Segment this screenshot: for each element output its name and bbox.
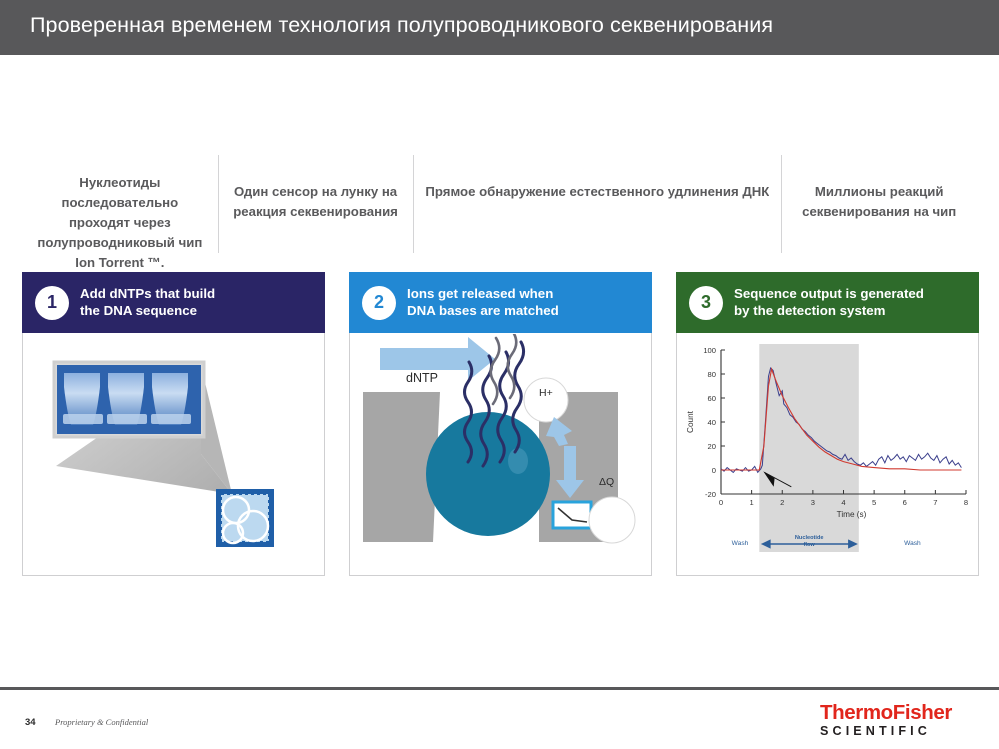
svg-text:4: 4 [841,498,845,507]
nucleotide-flow-label: Nucleotide [795,535,824,541]
svg-text:-20: -20 [705,490,716,499]
svg-text:100: 100 [703,346,716,355]
thermofisher-logo: ThermoFisher SCIENTIFIC [820,702,980,738]
logo-wordmark: ThermoFisher [820,702,980,723]
x-axis-label: Time (s) [837,510,867,519]
svg-text:0: 0 [719,498,723,507]
wash-label: Wash [732,540,749,547]
step-card-3-body: -20020406080100012345678Time (s)CountWas… [677,334,978,575]
nucleotide-flow-label-2: flow [804,542,816,548]
step-card-1: 1 Add dNTPs that build the DNA sequence [22,272,325,576]
svg-text:0: 0 [712,466,716,475]
step-card-2-title-line1: Ions get released when [407,286,553,301]
svg-text:60: 60 [708,394,716,403]
callout-3-text: Прямое обнаружение естественного удлинен… [425,155,769,202]
dntp-label: dNTP [406,371,438,385]
step-number-badge-2: 2 [362,286,396,320]
hydrogen-ion-circle [524,378,568,422]
delta-q-circle [589,497,635,543]
svg-text:80: 80 [708,370,716,379]
callout-4: Миллионы реакций секвенирования на чип [781,155,977,253]
confidentiality-notice: Proprietary & Confidential [55,717,148,727]
callout-2-text: Один сенсор на лунку на реакция секвенир… [230,155,402,222]
callout-1: Нуклеотиды последовательно проходят чере… [22,155,218,253]
svg-text:5: 5 [872,498,876,507]
slide-header-bar: Проверенная временем технология полупров… [0,0,999,55]
delta-q-label: ΔQ [599,476,614,488]
slide: Проверенная временем технология полупров… [0,0,999,749]
sensor-box [553,502,591,528]
ion-release-sensor-diagram [350,334,651,575]
y-axis-label: Count [686,410,695,433]
step-card-3-title-line1: Sequence output is generated [734,286,924,301]
page-title: Проверенная временем технология полупров… [30,13,773,38]
step-number-badge-3: 3 [689,286,723,320]
step-card-3-title: Sequence output is generated by the dete… [734,286,924,319]
step-card-2-title: Ions get released when DNA bases are mat… [407,286,559,319]
step-card-1-title-line2: the DNA sequence [80,303,197,318]
callout-row: Нуклеотиды последовательно проходят чере… [22,155,977,253]
svg-text:7: 7 [933,498,937,507]
footer-divider [0,687,999,690]
page-number: 34 [25,717,36,728]
step-card-1-header: 1 Add dNTPs that build the DNA sequence [22,272,325,333]
svg-text:1: 1 [750,498,754,507]
step-card-1-title: Add dNTPs that build the DNA sequence [80,286,215,319]
svg-text:6: 6 [903,498,907,507]
callout-3: Прямое обнаружение естественного удлинен… [413,155,781,253]
hplus-label: H+ [539,387,553,399]
step-card-row: 1 Add dNTPs that build the DNA sequence [22,272,978,576]
step-card-3-header: 3 Sequence output is generated by the de… [676,272,979,333]
wash-label: Wash [904,540,921,547]
ion-torrent-chip-wells-diagram [23,334,324,575]
callout-2: Один сенсор на лунку на реакция секвенир… [218,155,414,253]
step-card-2-header: 2 Ions get released when DNA bases are m… [349,272,652,333]
svg-text:3: 3 [811,498,815,507]
step-card-3: 3 Sequence output is generated by the de… [676,272,979,576]
callout-4-text: Миллионы реакций секвенирования на чип [793,155,965,222]
callout-1-text: Нуклеотиды последовательно проходят чере… [34,155,206,273]
step-card-1-title-line1: Add dNTPs that build [80,286,215,301]
step-card-1-body [23,334,324,575]
svg-text:8: 8 [964,498,968,507]
step-card-2-title-line2: DNA bases are matched [407,303,559,318]
step-card-3-title-line2: by the detection system [734,303,885,318]
step-card-2: 2 Ions get released when DNA bases are m… [349,272,652,576]
svg-text:40: 40 [708,418,716,427]
dna-bead [426,412,550,536]
logo-subtitle: SCIENTIFIC [820,724,980,738]
step-card-2-body: dNTP H+ ΔQ [350,334,651,575]
sequence-trace-chart: -20020406080100012345678Time (s)CountWas… [677,334,978,575]
svg-text:20: 20 [708,442,716,451]
svg-text:2: 2 [780,498,784,507]
step-number-badge-1: 1 [35,286,69,320]
